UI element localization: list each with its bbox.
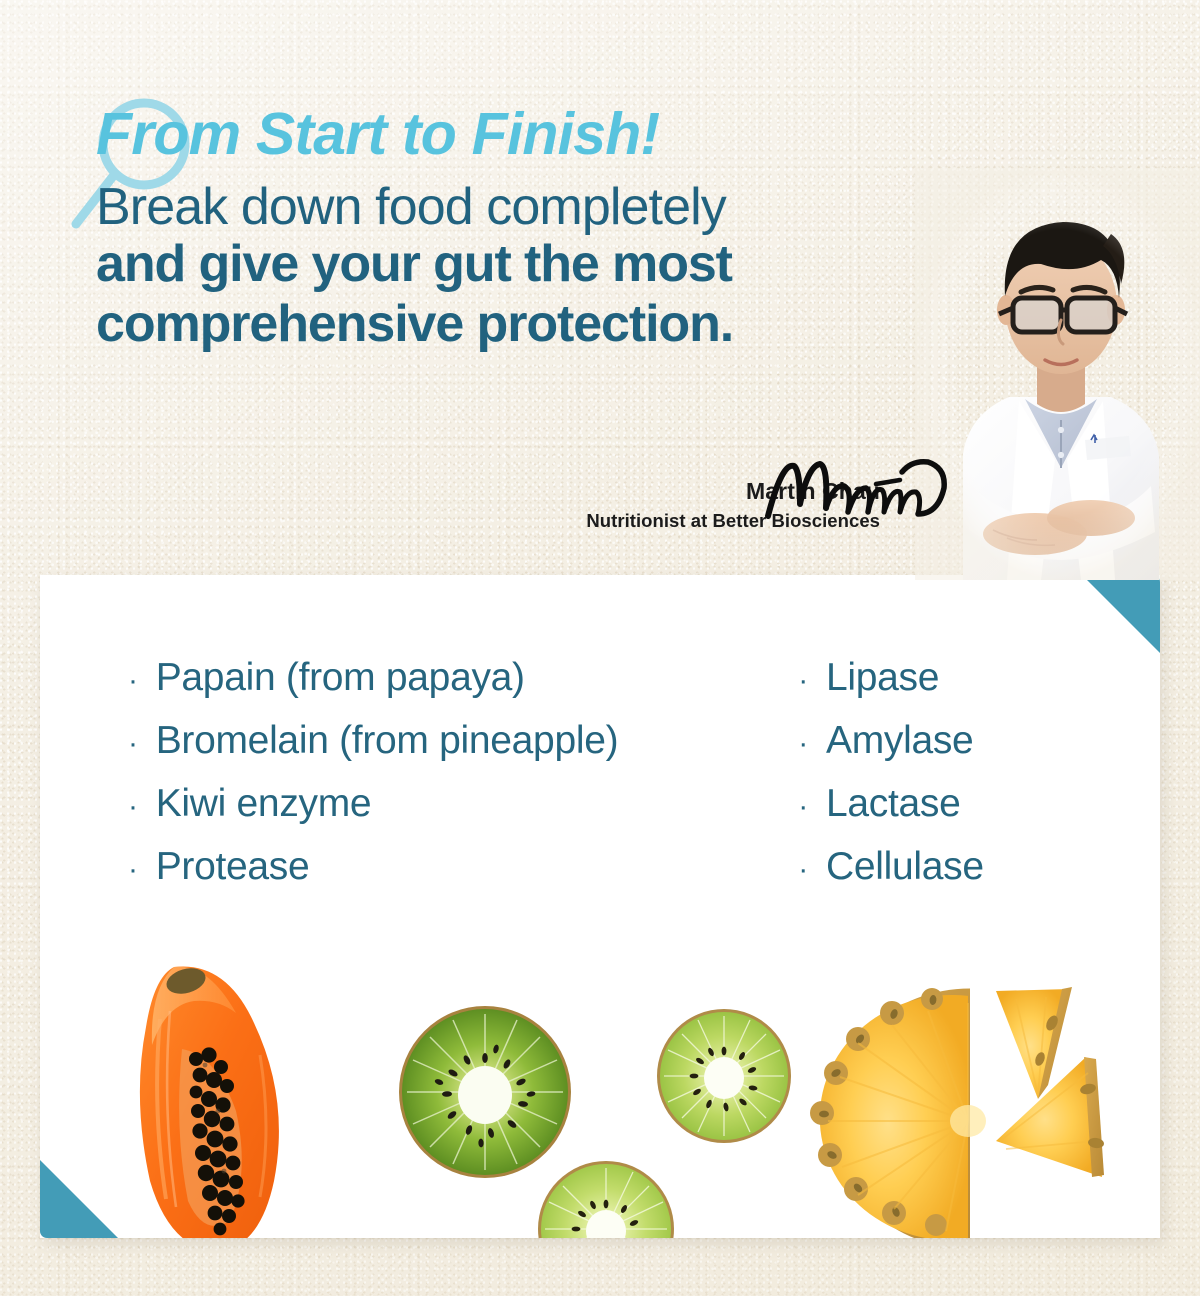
- enzyme-column-right: · Lipase · Amylase · Lactase · Cellulase: [798, 648, 983, 900]
- enzyme-column-left: · Papain (from papaya) · Bromelain (from…: [128, 648, 618, 900]
- kiwi-slice-small-image: [654, 1006, 794, 1146]
- signature-block: Martin Chau Nutritionist at Better Biosc…: [586, 478, 880, 532]
- bullet-icon: ·: [798, 777, 808, 837]
- kiwi-slice-cropped-image: [535, 1158, 677, 1238]
- bullet-icon: ·: [128, 651, 138, 711]
- enzyme-label: Papain (from papaya): [156, 648, 525, 708]
- bullet-icon: ·: [798, 651, 808, 711]
- headline-eyebrow: From Start to Finish!: [96, 104, 926, 164]
- enzyme-label: Cellulase: [826, 837, 984, 897]
- enzyme-label: Kiwi enzyme: [156, 774, 372, 834]
- nutritionist-portrait: [915, 168, 1200, 580]
- enzyme-label: Lipase: [826, 648, 939, 708]
- bullet-icon: ·: [798, 840, 808, 900]
- list-item: · Bromelain (from pineapple): [128, 711, 618, 774]
- list-item: · Papain (from papaya): [128, 648, 618, 711]
- signature-name-row: Martin Chau: [586, 478, 880, 505]
- bullet-icon: ·: [128, 777, 138, 837]
- list-item: · Kiwi enzyme: [128, 774, 618, 837]
- folded-corner-top-right-icon: [1082, 575, 1160, 653]
- handwritten-signature: [752, 444, 952, 530]
- bullet-icon: ·: [128, 714, 138, 774]
- list-item: · Amylase: [798, 711, 983, 774]
- headline-line-bold-1: and give your gut the most: [96, 235, 926, 294]
- folded-corner-bottom-left-icon: [40, 1160, 118, 1238]
- enzyme-label: Bromelain (from pineapple): [156, 711, 619, 771]
- poster-canvas: From Start to Finish! Break down food co…: [0, 0, 1200, 1296]
- fruit-photo-row: [40, 938, 1160, 1238]
- headline-block: From Start to Finish! Break down food co…: [96, 104, 926, 354]
- list-item: · Lactase: [798, 774, 983, 837]
- kiwi-slice-large-image: [395, 1002, 575, 1182]
- list-item: · Cellulase: [798, 837, 983, 900]
- list-item: · Protease: [128, 837, 618, 900]
- headline-line-bold-2: comprehensive protection.: [96, 295, 926, 354]
- enzyme-label: Lactase: [826, 774, 961, 834]
- enzyme-label: Protease: [156, 837, 310, 897]
- list-item: · Lipase: [798, 648, 983, 711]
- enzyme-label: Amylase: [826, 711, 973, 771]
- enzyme-list: · Papain (from papaya) · Bromelain (from…: [128, 648, 984, 900]
- pineapple-slice-image: [800, 981, 1145, 1238]
- enzyme-card: · Papain (from papaya) · Bromelain (from…: [40, 575, 1160, 1238]
- papaya-half-image: [108, 959, 313, 1238]
- bullet-icon: ·: [798, 714, 808, 774]
- bullet-icon: ·: [128, 840, 138, 900]
- headline-line-regular: Break down food completely: [96, 180, 926, 235]
